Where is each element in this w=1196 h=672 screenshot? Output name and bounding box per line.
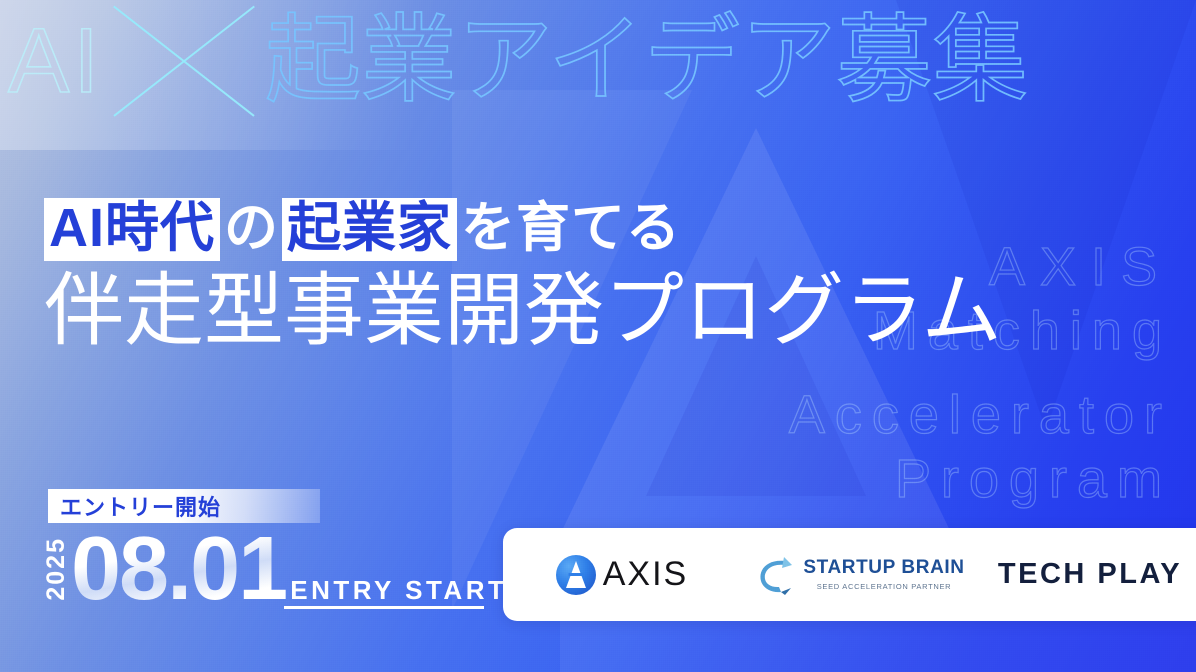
background-bar-bottom-right [560,612,1196,672]
ghost-word-program: Program [895,448,1172,510]
startup-brain-tagline: SEED ACCELERATION PARTNER [817,582,952,591]
ghost-word-axis: AXIS [989,236,1172,298]
headline-line-2: 伴走型事業開発プログラム [44,266,1002,356]
partner-logo-panel: AXIS STARTUP BRAIN SEED ACCELERATION PAR… [503,528,1196,621]
headline-highlight-entrepreneur: 起業家 [282,198,457,261]
startup-brain-wordmark: STARTUP BRAIN [803,558,964,579]
top-headline: AI 起業アイデア募集 [8,2,1028,120]
entry-start-underline [284,606,484,609]
entry-date-block: 2025 08.01 ENTRY START [44,528,507,611]
headline-highlight-ai-era: AI時代 [44,198,220,261]
main-headline: AI時代 の 起業家 を育てる 伴走型事業開発プログラム [44,196,1002,355]
entry-start-caption: ENTRY START [290,577,507,609]
entry-start-badge: エントリー開始 [48,489,320,523]
tech-play-wordmark: TECH PLAY [998,558,1182,591]
logo-startup-brain[interactable]: STARTUP BRAIN SEED ACCELERATION PARTNER [741,528,979,621]
top-headline-ai: AI [8,15,103,107]
logo-axis[interactable]: AXIS [503,528,741,621]
entry-start-text: ENTRY START [290,577,507,603]
entry-start-badge-label: エントリー開始 [60,490,221,522]
entry-date: 08.01 [71,528,286,611]
headline-text-nurture: を育てる [458,196,684,262]
multiply-icon [109,2,259,120]
headline-text-no: の [221,196,282,262]
event-banner: AI 起業アイデア募集 AXIS Matching Accelerator Pr… [0,0,1196,672]
logo-tech-play[interactable]: TECH PLAY [979,528,1196,621]
headline-line-1: AI時代 の 起業家 を育てる [44,196,1002,262]
ghost-word-accelerator: Accelerator [789,384,1172,446]
startup-brain-text: STARTUP BRAIN SEED ACCELERATION PARTNER [803,558,964,591]
top-headline-japanese: 起業アイデア募集 [265,13,1028,109]
entry-year: 2025 [44,537,69,601]
axis-wordmark: AXIS [603,555,688,594]
axis-circle-a-icon [556,555,596,595]
swoosh-arrow-icon [755,554,795,596]
